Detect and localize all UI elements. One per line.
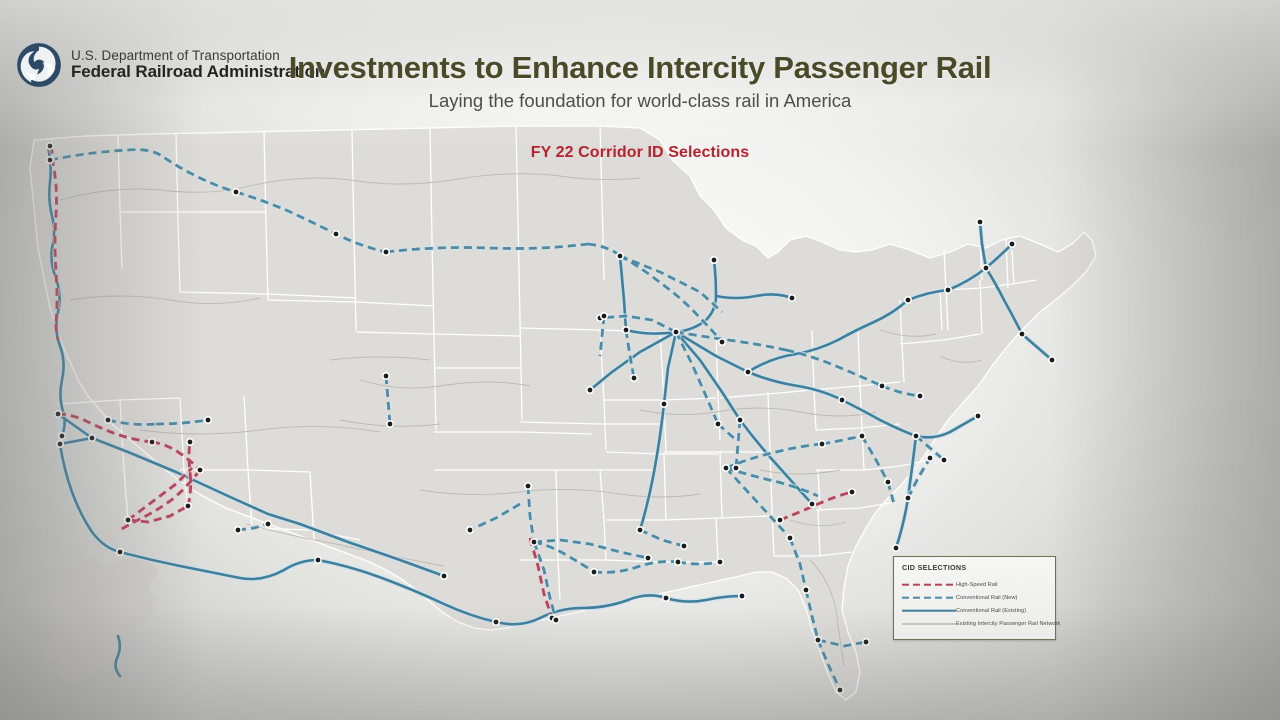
legend-label-conventional-existing: Conventional Rail (Existing): [956, 608, 1026, 614]
legend-swatch-conventional-existing: [902, 606, 956, 616]
page-subtitle: Laying the foundation for world-class ra…: [0, 90, 1280, 112]
page-title: Investments to Enhance Intercity Passeng…: [0, 50, 1280, 86]
legend-title: CID SELECTIONS: [902, 563, 1048, 572]
legend-label-high-speed-rail: High-Speed Rail: [956, 582, 997, 588]
legend-label-existing-network: Existing Intercity Passenger Rail Networ…: [956, 621, 1060, 627]
legend-swatch-high-speed-rail: [902, 580, 956, 590]
legend-item-existing-network: Existing Intercity Passenger Rail Networ…: [902, 617, 1048, 630]
legend-item-high-speed-rail: High-Speed Rail: [902, 578, 1048, 591]
fy-callout: FY 22 Corridor ID Selections: [0, 144, 1280, 162]
poster-canvas: U.S. Department of Transportation Federa…: [0, 0, 1280, 720]
legend-swatch-conventional-new: [902, 593, 956, 603]
legend-item-conventional-existing: Conventional Rail (Existing): [902, 604, 1048, 617]
map-legend: CID SELECTIONS High-Speed Rail Conventio…: [893, 556, 1056, 640]
legend-swatch-existing-network: [902, 619, 956, 629]
legend-item-conventional-new: Conventional Rail (New): [902, 591, 1048, 604]
legend-label-conventional-new: Conventional Rail (New): [956, 595, 1017, 601]
